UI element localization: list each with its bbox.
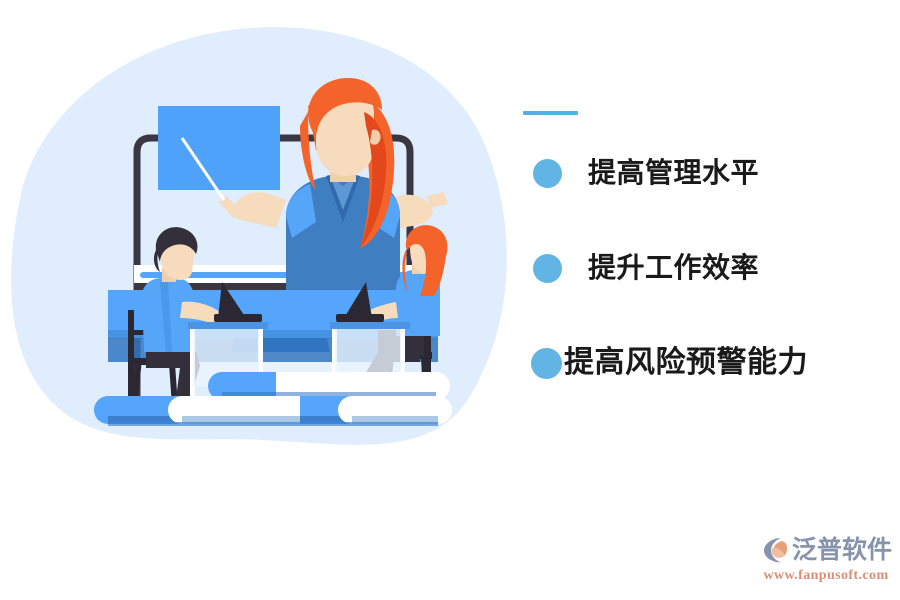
- list-item-label: 提升工作效率: [588, 254, 759, 282]
- fanpu-mark-icon: [760, 535, 790, 565]
- list-item-label: 提高管理水平: [588, 159, 759, 187]
- bullet-dot-icon: [533, 159, 562, 188]
- bullet-dot-icon: [531, 348, 562, 379]
- illustration: [0, 0, 520, 500]
- page-root: 提高管理水平 提升工作效率 提高风险预警能力 泛普软件: [0, 0, 900, 600]
- brand-name: 泛普软件: [792, 535, 892, 565]
- benefits-panel: 提高管理水平 提升工作效率 提高风险预警能力: [523, 100, 883, 410]
- list-item[interactable]: 提高管理水平: [523, 142, 883, 204]
- logo-top-row: 泛普软件: [760, 533, 892, 567]
- list-item[interactable]: 提高风险预警能力: [523, 332, 883, 394]
- list-item[interactable]: 提升工作效率: [523, 237, 883, 299]
- list-item-label: 提高风险预警能力: [564, 348, 808, 378]
- bullet-dot-icon: [533, 254, 562, 283]
- accent-rule: [523, 111, 578, 115]
- presentation-board: [158, 106, 280, 190]
- brand-url: www.fanpusoft.com: [760, 568, 892, 584]
- brand-logo[interactable]: 泛普软件 www.fanpusoft.com: [760, 533, 892, 589]
- benefits-list: 提高管理水平 提升工作效率 提高风险预警能力: [523, 142, 883, 394]
